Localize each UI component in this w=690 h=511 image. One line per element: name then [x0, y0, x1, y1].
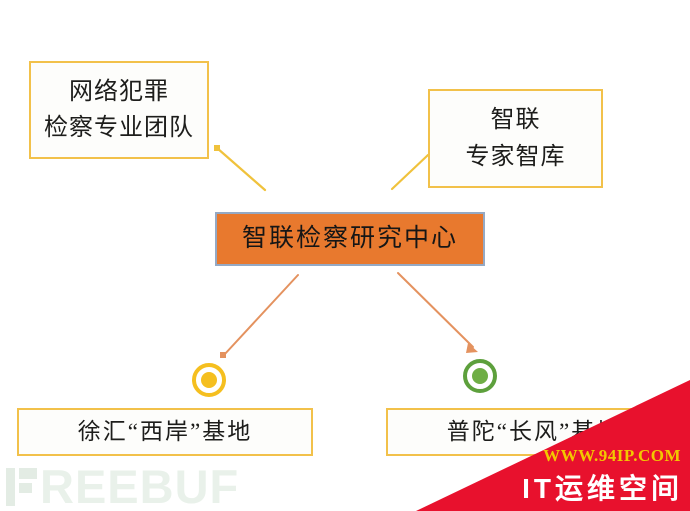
diagram-canvas: 网络犯罪 检察专业团队 智联 专家智库 智联检察研究中心 徐汇“西岸”基地 普陀… — [0, 0, 690, 511]
node-cybercrime-line2: 检察专业团队 — [44, 111, 194, 145]
watermark-94ip-name: IT运维空间 — [522, 467, 683, 507]
node-center-label: 智联检察研究中心 — [242, 221, 458, 257]
node-zhilian-thinktank[interactable]: 智联 专家智库 — [428, 89, 603, 188]
node-thinktank-line1: 智联 — [491, 103, 541, 137]
node-xuhui-label: 徐汇“西岸”基地 — [78, 416, 252, 449]
watermark-94ip-url: WWW.94IP.COM — [543, 446, 681, 466]
node-research-center[interactable]: 智联检察研究中心 — [215, 212, 485, 266]
connector-thinktank-to-center — [392, 155, 428, 189]
node-cybercrime-team[interactable]: 网络犯罪 检察专业团队 — [29, 61, 209, 159]
watermark-freebuf: REEBUF — [6, 459, 239, 511]
marker-dot-yellow — [201, 372, 217, 388]
node-thinktank-line2: 专家智库 — [466, 140, 566, 174]
freebuf-logo-icon — [6, 468, 37, 506]
watermark-94ip: WWW.94IP.COM IT运维空间 — [416, 380, 690, 511]
connector-center-to-putuo — [398, 273, 478, 353]
watermark-freebuf-text: REEBUF — [40, 459, 239, 511]
node-cybercrime-line1: 网络犯罪 — [69, 75, 169, 109]
node-xuhui-base[interactable]: 徐汇“西岸”基地 — [17, 408, 313, 456]
connector-center-to-xuhui — [220, 275, 298, 358]
target-circle-marker-yellow-icon — [192, 363, 226, 397]
connector-cybercrime-to-center — [214, 145, 265, 190]
